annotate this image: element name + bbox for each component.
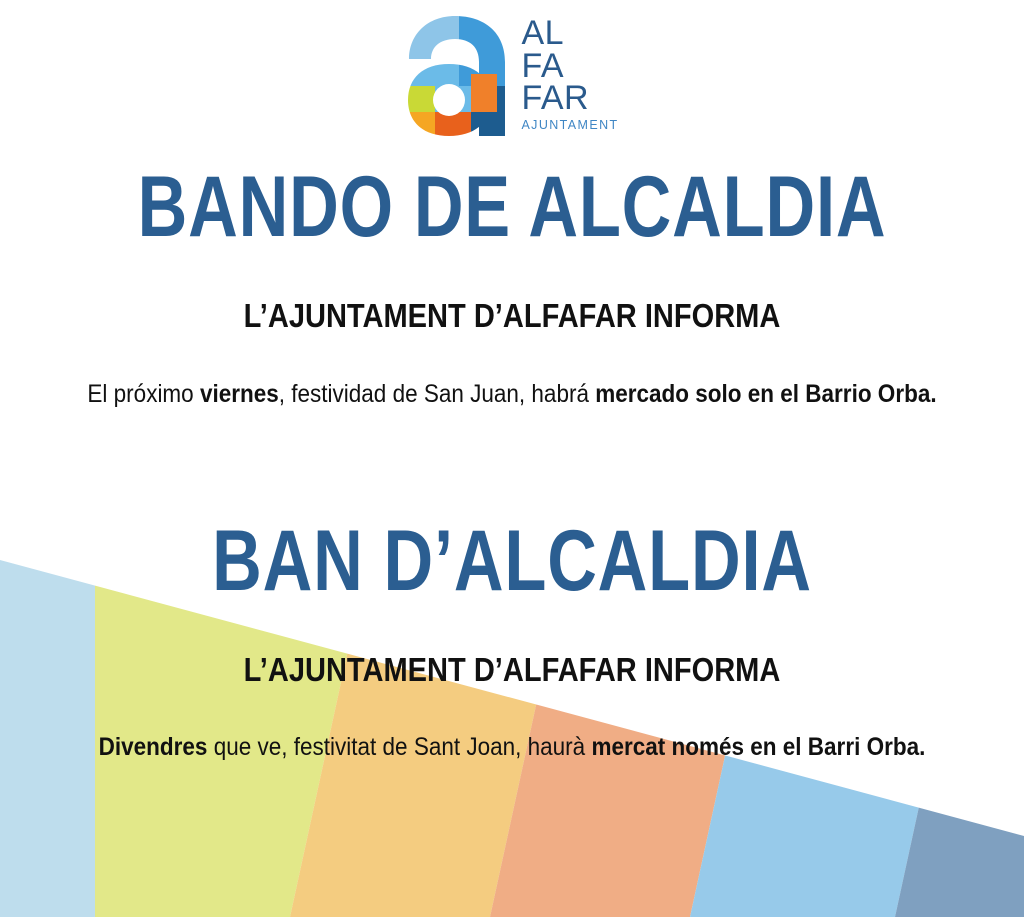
- logo-line-al: AL: [521, 17, 564, 50]
- valencian-title: BAN D’ALCALDIA: [102, 518, 921, 604]
- spanish-subtitle-row: L’AJUNTAMENT D’ALFAFAR INFORMA: [0, 299, 1024, 332]
- valencian-subtitle: L’AJUNTAMENT D’ALFAFAR INFORMA: [61, 653, 962, 686]
- alfafar-logo: AL FA FAR AJUNTAMENT: [0, 14, 1024, 146]
- valencian-title-row: BAN D’ALCALDIA: [0, 518, 1024, 604]
- spanish-body-row: El próximo viernes, festividad de San Ju…: [0, 380, 1024, 409]
- logo-line-far: FAR: [521, 82, 589, 115]
- valencian-subtitle-row: L’AJUNTAMENT D’ALFAFAR INFORMA: [0, 653, 1024, 686]
- poster-canvas: AL FA FAR AJUNTAMENT BANDO DE ALCALDIA L…: [0, 0, 1024, 917]
- alfafar-a-logo-icon: [405, 14, 513, 138]
- spanish-subtitle: L’AJUNTAMENT D’ALFAFAR INFORMA: [61, 299, 962, 332]
- valencian-body-text: Divendres que ve, festivitat de Sant Joa…: [51, 733, 973, 762]
- valencian-body-row: Divendres que ve, festivitat de Sant Joa…: [0, 733, 1024, 762]
- logo-subtitle-ajuntament: AJUNTAMENT: [521, 118, 618, 132]
- spanish-body-text: El próximo viernes, festividad de San Ju…: [51, 380, 973, 409]
- spanish-title-row: BANDO DE ALCALDIA: [0, 164, 1024, 250]
- spanish-title: BANDO DE ALCALDIA: [102, 164, 921, 250]
- logo-line-fa: FA: [521, 50, 564, 83]
